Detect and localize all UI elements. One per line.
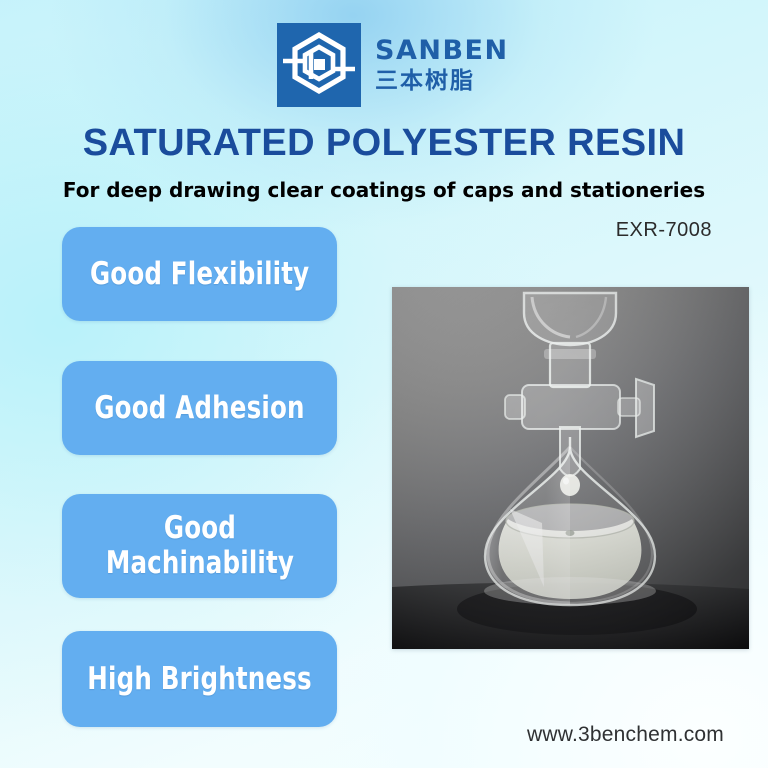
feature-card-flexibility: Good Flexibility — [62, 227, 337, 321]
feature-card-label: Good Machinability — [105, 511, 293, 580]
product-code-label: EXR-7008 — [616, 219, 712, 242]
website-url[interactable]: www.3benchem.com — [527, 723, 724, 747]
hexagon-monogram-logo-icon — [277, 23, 361, 107]
poster-canvas: SANBEN 三本树脂 SATURATED POLYESTER RESIN Fo… — [0, 0, 768, 768]
feature-card-label: Good Flexibility — [90, 257, 309, 292]
brand-name-cn: 三本树脂 — [375, 68, 509, 96]
brand-logo-block: SANBEN 三本树脂 — [277, 22, 512, 108]
page-title: SATURATED POLYESTER RESIN — [0, 122, 768, 165]
feature-card-label: Good Adhesion — [94, 391, 304, 426]
feature-card-label: High Brightness — [87, 662, 312, 697]
feature-card-brightness: High Brightness — [62, 631, 337, 727]
feature-card-adhesion: Good Adhesion — [62, 361, 337, 455]
page-subtitle: For deep drawing clear coatings of caps … — [0, 178, 768, 202]
product-photo — [392, 287, 749, 649]
feature-card-machinability: Good Machinability — [62, 494, 337, 598]
brand-name-en: SANBEN — [375, 37, 509, 65]
brand-wordmark: SANBEN 三本树脂 — [375, 35, 509, 96]
